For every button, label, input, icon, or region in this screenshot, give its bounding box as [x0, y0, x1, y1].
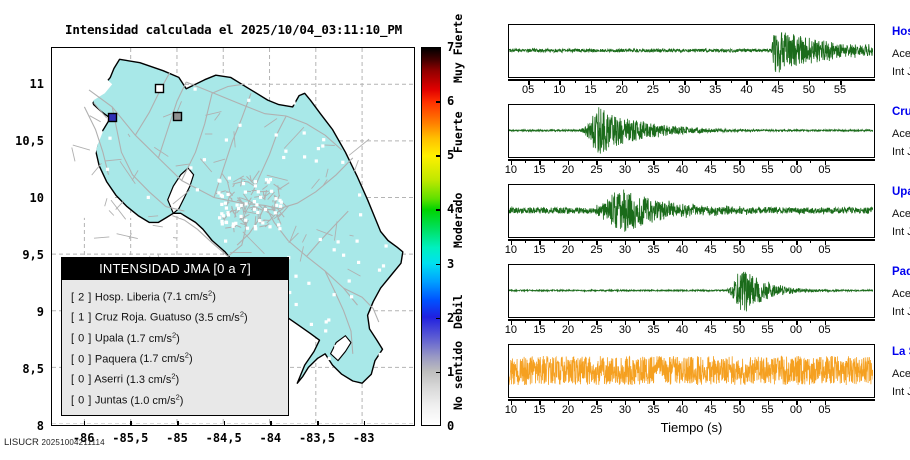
- seismogram-waveform: [509, 345, 873, 396]
- axis-tick-label: 25: [583, 324, 609, 336]
- axis-minor-tick: [611, 399, 612, 403]
- map-x-tick-mark: [364, 421, 366, 426]
- axis-tick-label: 40: [669, 164, 695, 176]
- legend-station: Upala: [95, 333, 124, 345]
- legend-accel: (1.7 cm/s2): [140, 353, 193, 365]
- axis-tick-label: 10: [546, 84, 572, 96]
- legend-station: Paquera: [95, 353, 137, 365]
- legend-level: [ 0 ]: [71, 333, 92, 345]
- seismogram-waveform: [509, 25, 873, 76]
- legend-accel: (3.5 cm/s2): [195, 312, 248, 324]
- legend-title: INTENSIDAD JMA [0 a 7]: [62, 258, 288, 280]
- axis-minor-tick: [696, 399, 697, 403]
- axis-minor-tick: [606, 79, 607, 83]
- axis-tick-label: 55: [755, 164, 781, 176]
- axis-minor-tick: [810, 319, 811, 323]
- map-y-tick: 8,5: [0, 362, 44, 376]
- legend-station: Juntas: [95, 395, 127, 407]
- station-name-label[interactable]: La Sabana: [892, 346, 910, 358]
- axis-tick-label: 30: [612, 164, 638, 176]
- axis-tick-label: 40: [669, 404, 695, 416]
- axis-minor-tick: [696, 319, 697, 323]
- seismogram-waveform: [509, 265, 873, 316]
- axis-minor-tick: [575, 79, 576, 83]
- colorbar-gradient: [421, 47, 441, 426]
- axis-minor-tick: [668, 239, 669, 243]
- axis-tick-label: 50: [726, 404, 752, 416]
- seismogram-trace-box[interactable]: [508, 24, 875, 78]
- axis-minor-tick: [725, 319, 726, 323]
- map-x-tick: -83: [336, 431, 392, 445]
- axis-tick-label: 00: [783, 404, 809, 416]
- legend-station-row: [ 2 ] Hosp. Liberia (7.1 cm/s2): [62, 285, 288, 306]
- axis-minor-tick: [544, 79, 545, 83]
- station-accel-label: Acel. Max. 0.2: [892, 208, 910, 220]
- colorbar-tick: [436, 372, 441, 374]
- axis-minor-tick: [725, 239, 726, 243]
- axis-minor-tick: [554, 319, 555, 323]
- axis-minor-tick: [639, 239, 640, 243]
- station-accel-label: Acel. Max. 1.0: [892, 128, 910, 140]
- colorbar-tick-label: 3: [447, 257, 454, 271]
- legend-level: [ 0 ]: [71, 374, 92, 386]
- axis-tick-label: 35: [640, 244, 666, 256]
- footer-credit: LISUCR 20251004211114: [4, 437, 105, 448]
- seismogram-time-axis: 101520253035404550550005: [508, 159, 875, 175]
- station-jma-label: Int JMA: 1: [892, 146, 910, 158]
- axis-baseline: [508, 399, 875, 401]
- axis-minor-tick: [700, 79, 701, 83]
- axis-tick-label: 00: [783, 244, 809, 256]
- axis-tick-label: 05: [812, 164, 838, 176]
- axis-tick-label: 50: [726, 244, 752, 256]
- station-marker[interactable]: [109, 114, 117, 122]
- axis-minor-tick: [782, 159, 783, 163]
- time-axis-title: Tiempo (s): [508, 420, 875, 435]
- axis-minor-tick: [611, 319, 612, 323]
- station-accel-label: Acel. Max. 0.2: [892, 288, 910, 300]
- axis-tick-label: 30: [671, 84, 697, 96]
- axis-minor-tick: [669, 79, 670, 83]
- axis-minor-tick: [554, 399, 555, 403]
- axis-tick-label: 10: [498, 404, 524, 416]
- axis-baseline: [508, 239, 875, 241]
- legend-level: [ 0 ]: [71, 353, 92, 365]
- legend-station-row: [ 0 ] Juntas (1.0 cm/s2): [62, 388, 288, 409]
- map-x-tick-mark: [317, 421, 319, 426]
- colorbar-tick: [436, 155, 441, 157]
- axis-tick-label: 45: [765, 84, 791, 96]
- legend-accel: (1.7 cm/s2): [127, 333, 180, 345]
- map-y-tick: 11: [0, 77, 44, 91]
- axis-tick-label: 55: [755, 244, 781, 256]
- axis-tick-label: 25: [583, 404, 609, 416]
- axis-minor-tick: [668, 319, 669, 323]
- legend-station-row: [ 0 ] Aserri (1.3 cm/s2): [62, 368, 288, 389]
- axis-minor-tick: [725, 159, 726, 163]
- axis-tick-label: 25: [640, 84, 666, 96]
- station-jma-label: Int JMA: 0: [892, 386, 910, 398]
- legend-accel: (1.0 cm/s2): [130, 395, 183, 407]
- map-y-tick: 10,5: [0, 134, 44, 148]
- axis-minor-tick: [810, 399, 811, 403]
- map-plot-area[interactable]: INTENSIDAD JMA [0 a 7] [ 2 ] Hosp. Liber…: [51, 47, 415, 426]
- axis-minor-tick: [753, 239, 754, 243]
- axis-tick-label: 30: [612, 324, 638, 336]
- axis-tick-label: 35: [640, 404, 666, 416]
- map-x-tick-mark: [270, 421, 272, 426]
- axis-tick-label: 05: [812, 404, 838, 416]
- colorbar-tick: [436, 101, 441, 103]
- colorbar-tick-label: 6: [447, 94, 454, 108]
- seismogram-time-axis: 101520253035404550550005: [508, 239, 875, 255]
- station-name-label[interactable]: Hosp. Liberia: [892, 26, 910, 38]
- seismogram-waveform: [509, 185, 873, 236]
- axis-tick-label: 50: [796, 84, 822, 96]
- legend-station-row: [ 0 ] Paquera (1.7 cm/s2): [62, 347, 288, 368]
- axis-tick-label: 45: [698, 244, 724, 256]
- axis-minor-tick: [639, 399, 640, 403]
- station-marker[interactable]: [174, 113, 182, 121]
- axis-tick-label: 55: [755, 404, 781, 416]
- axis-minor-tick: [525, 399, 526, 403]
- seismogram-time-axis: 0510152025303540455055: [508, 79, 875, 95]
- legend-accel: (7.1 cm/s2): [163, 291, 216, 303]
- axis-minor-tick: [753, 319, 754, 323]
- axis-minor-tick: [639, 319, 640, 323]
- axis-tick-label: 40: [669, 244, 695, 256]
- footer-code: 20251004211114: [41, 438, 104, 447]
- footer-org: LISUCR: [4, 437, 39, 448]
- axis-tick-label: 25: [583, 164, 609, 176]
- axis-minor-tick: [525, 319, 526, 323]
- map-x-tick-mark: [84, 421, 86, 426]
- legend-accel: (1.3 cm/s2): [126, 374, 179, 386]
- axis-baseline: [508, 79, 875, 81]
- axis-minor-tick: [696, 159, 697, 163]
- axis-tick-label: 15: [526, 244, 552, 256]
- axis-minor-tick: [582, 159, 583, 163]
- colorbar-category-label: No sentido: [451, 341, 465, 410]
- axis-tick-label: 25: [583, 244, 609, 256]
- map-y-tick: 8: [0, 419, 44, 433]
- legend-level: [ 2 ]: [71, 291, 92, 303]
- axis-minor-tick: [696, 239, 697, 243]
- axis-minor-tick: [554, 239, 555, 243]
- colorbar-category-label: Muy Fuerte: [451, 13, 465, 82]
- axis-baseline: [508, 159, 875, 161]
- station-accel-label: Acel. Max. 1.0: [892, 48, 910, 60]
- axis-tick-label: 30: [612, 244, 638, 256]
- axis-minor-tick: [668, 159, 669, 163]
- axis-minor-tick: [582, 399, 583, 403]
- map-y-tick: 9: [0, 305, 44, 319]
- axis-minor-tick: [582, 319, 583, 323]
- axis-minor-tick: [793, 79, 794, 83]
- legend-level: [ 0 ]: [71, 395, 92, 407]
- axis-tick-label: 20: [555, 164, 581, 176]
- seismogram-trace-box[interactable]: [508, 104, 875, 158]
- axis-minor-tick: [611, 239, 612, 243]
- axis-minor-tick: [824, 79, 825, 83]
- station-accel-label: Acel. Max. 0.0: [892, 368, 910, 380]
- axis-tick-label: 15: [526, 164, 552, 176]
- seismogram-trace-box[interactable]: [508, 264, 875, 318]
- axis-minor-tick: [782, 319, 783, 323]
- station-jma-label: Int JMA: 0: [892, 306, 910, 318]
- station-name-label[interactable]: Upala: [892, 186, 910, 198]
- station-marker[interactable]: [156, 85, 164, 93]
- station-name-label[interactable]: Cruz Roja, Guatuso: [892, 106, 910, 118]
- axis-tick-label: 10: [498, 244, 524, 256]
- axis-minor-tick: [611, 159, 612, 163]
- axis-tick-label: 40: [669, 324, 695, 336]
- axis-minor-tick: [782, 399, 783, 403]
- axis-tick-label: 15: [526, 404, 552, 416]
- axis-minor-tick: [731, 79, 732, 83]
- axis-minor-tick: [753, 159, 754, 163]
- axis-minor-tick: [810, 239, 811, 243]
- axis-tick-label: 05: [812, 324, 838, 336]
- axis-minor-tick: [637, 79, 638, 83]
- axis-tick-label: 20: [555, 404, 581, 416]
- axis-tick-label: 55: [755, 324, 781, 336]
- legend-station: Aserri: [94, 374, 123, 386]
- axis-tick-label: 05: [812, 244, 838, 256]
- axis-tick-label: 45: [698, 324, 724, 336]
- axis-tick-label: 00: [783, 324, 809, 336]
- intensity-colorbar: [421, 47, 441, 426]
- axis-tick-label: 45: [698, 164, 724, 176]
- colorbar-tick: [436, 209, 441, 211]
- axis-tick-label: 05: [515, 84, 541, 96]
- intensity-legend-box: INTENSIDAD JMA [0 a 7] [ 2 ] Hosp. Liber…: [61, 257, 289, 416]
- colorbar-tick: [436, 264, 441, 266]
- seismogram-trace-box[interactable]: [508, 344, 875, 398]
- seismogram-trace-box[interactable]: [508, 184, 875, 238]
- legend-station: Hosp. Liberia: [95, 291, 160, 303]
- station-jma-label: Int JMA: 0: [892, 226, 910, 238]
- axis-baseline: [508, 319, 875, 321]
- axis-tick-label: 50: [726, 324, 752, 336]
- legend-station-row: [ 1 ] Cruz Roja. Guatuso (3.5 cm/s2): [62, 306, 288, 327]
- axis-tick-label: 55: [827, 84, 853, 96]
- page-title: Intensidad calculada el 2025/10/04_03:11…: [51, 22, 416, 37]
- seismogram-waveform: [509, 105, 873, 156]
- axis-minor-tick: [810, 159, 811, 163]
- seismogram-time-axis: 101520253035404550550005: [508, 399, 875, 415]
- map-x-tick-mark: [177, 421, 179, 426]
- axis-minor-tick: [554, 159, 555, 163]
- axis-tick-label: 20: [555, 324, 581, 336]
- axis-minor-tick: [525, 159, 526, 163]
- axis-minor-tick: [762, 79, 763, 83]
- axis-tick-label: 10: [498, 164, 524, 176]
- station-name-label[interactable]: Paquera: [892, 266, 910, 278]
- station-jma-label: Int JMA: 1: [892, 66, 910, 78]
- axis-tick-label: 45: [698, 404, 724, 416]
- colorbar-category-label: Fuerte: [451, 111, 465, 153]
- axis-tick-label: 15: [526, 324, 552, 336]
- map-y-tick: 9,5: [0, 248, 44, 262]
- axis-tick-label: 35: [640, 164, 666, 176]
- legend-station: Cruz Roja. Guatuso: [95, 312, 192, 324]
- seismogram-time-axis: 101520253035404550550005: [508, 319, 875, 335]
- axis-tick-label: 35: [702, 84, 728, 96]
- colorbar-category-label: Moderado: [451, 192, 465, 247]
- legend-rows: [ 2 ] Hosp. Liberia (7.1 cm/s2)[ 1 ] Cru…: [62, 280, 288, 415]
- map-x-tick-mark: [224, 421, 226, 426]
- axis-tick-label: 10: [498, 324, 524, 336]
- axis-tick-label: 20: [555, 244, 581, 256]
- map-y-tick: 10: [0, 191, 44, 205]
- axis-tick-label: 00: [783, 164, 809, 176]
- axis-tick-label: 40: [733, 84, 759, 96]
- legend-station-row: [ 0 ] Upala (1.7 cm/s2): [62, 326, 288, 347]
- axis-minor-tick: [582, 239, 583, 243]
- axis-minor-tick: [668, 399, 669, 403]
- axis-tick-label: 15: [578, 84, 604, 96]
- axis-tick-label: 35: [640, 324, 666, 336]
- colorbar-category-label: Debil: [451, 294, 465, 329]
- axis-tick-label: 20: [609, 84, 635, 96]
- colorbar-tick: [436, 318, 441, 320]
- map-x-tick-mark: [130, 421, 132, 426]
- axis-tick-label: 30: [612, 404, 638, 416]
- axis-minor-tick: [525, 239, 526, 243]
- legend-level: [ 1 ]: [71, 312, 92, 324]
- axis-minor-tick: [753, 399, 754, 403]
- axis-minor-tick: [782, 239, 783, 243]
- axis-minor-tick: [639, 159, 640, 163]
- axis-minor-tick: [725, 399, 726, 403]
- axis-tick-label: 50: [726, 164, 752, 176]
- colorbar-tick-label: 0: [447, 419, 454, 433]
